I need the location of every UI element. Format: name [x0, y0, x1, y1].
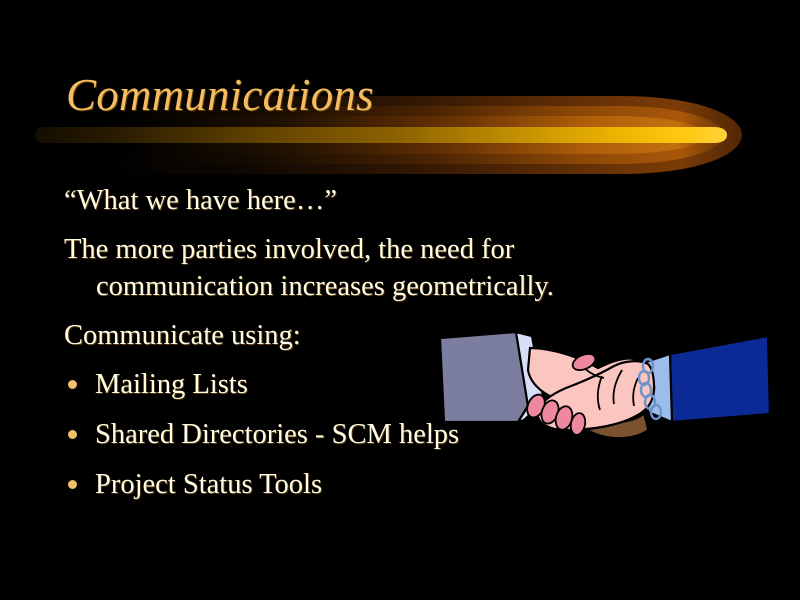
- paragraph-line-2: communication increases geometrically.: [96, 268, 684, 305]
- body-content: “What we have here…” The more parties in…: [64, 182, 684, 516]
- list-item-label: Shared Directories - SCM helps: [95, 419, 459, 450]
- list-item-label: Mailing Lists: [95, 369, 248, 400]
- list-item-label: Project Status Tools: [95, 469, 322, 500]
- list-item: Shared Directories - SCM helps: [64, 416, 684, 453]
- paragraph-line-1: The more parties involved, the need for: [64, 231, 684, 268]
- comet-core-bar: [35, 127, 727, 143]
- bullet-dot-icon: [68, 380, 77, 389]
- list-item: Mailing Lists: [64, 366, 684, 403]
- paragraph-block: The more parties involved, the need for …: [32, 231, 684, 305]
- bullet-dot-icon: [68, 480, 77, 489]
- slide-title: Communications: [66, 72, 374, 119]
- bullet-dot-icon: [68, 430, 77, 439]
- comet-halo-inner: [128, 116, 706, 154]
- quote-line: “What we have here…”: [64, 182, 684, 219]
- list-item: Project Status Tools: [64, 466, 684, 503]
- right-sleeve: [670, 336, 770, 422]
- slide-canvas: Communications: [0, 0, 800, 600]
- lead-in-line: Communicate using:: [64, 317, 684, 354]
